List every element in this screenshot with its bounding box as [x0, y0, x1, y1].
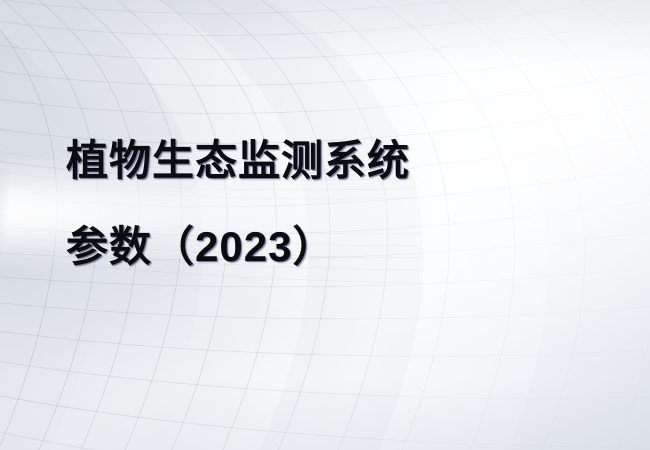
- title-slide: 植物生态监测系统 参数（2023）: [0, 0, 650, 450]
- slide-title-line-2: 参数（2023）: [66, 204, 586, 290]
- slide-title-block: 植物生态监测系统 参数（2023）: [66, 118, 586, 290]
- slide-title-line-1: 植物生态监测系统: [66, 118, 586, 204]
